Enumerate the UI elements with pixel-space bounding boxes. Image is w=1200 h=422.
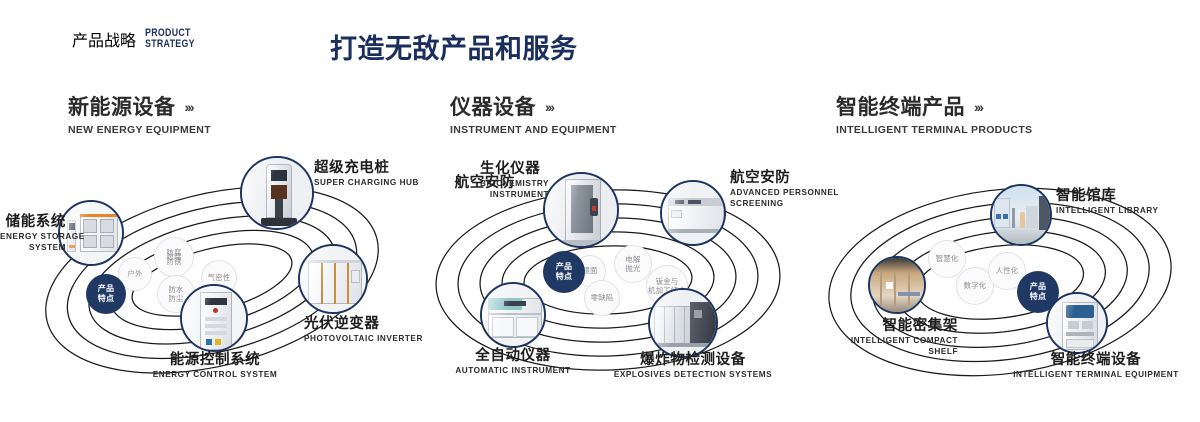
section-heading-intelligent: 智能终端产品 ››› INTELLIGENT TERMINAL PRODUCTS <box>836 96 1032 136</box>
caption-energy-control-system: 能源控制系统 ENERGY CONTROL SYSTEM <box>120 352 310 381</box>
page-title-cn: 产品战略 <box>72 27 136 51</box>
node-super-charging-hub[interactable] <box>240 156 314 230</box>
diagram-instrument: 镜面 电解 抛光 零缺陷 钣金与 机加工结合 产品 特点 <box>408 152 808 402</box>
product-strategy-infographic: 产品战略 PRODUCT STRATEGY 打造无敌产品和服务 新能源设备 ››… <box>0 0 1200 422</box>
caption-photovoltaic-inverter: 光伏逆变器 PHOTOVOLTAIC INVERTER <box>304 316 423 345</box>
node-intelligent-compact-shelf[interactable] <box>868 256 926 314</box>
page-title: 产品战略 PRODUCT STRATEGY <box>72 27 207 51</box>
section-heading-cn: 智能终端产品 <box>836 96 965 119</box>
node-advanced-personnel-screening[interactable] <box>660 180 726 246</box>
chevron-triple-icon: ››› <box>974 100 982 115</box>
section-heading-instrument: 仪器设备 ››› INSTRUMENT AND EQUIPMENT <box>450 96 617 136</box>
diagram-new-energy: 防腐 防腐 防锈 户外 防水 防尘 气密性 产品 特点 <box>12 152 412 402</box>
caption-intelligent-compact-shelf: 智能密集架 INTELLIGENT COMPACT SHELF <box>778 318 958 358</box>
caption-intelligent-terminal-equipment: 智能终端设备 INTELLIGENT TERMINAL EQUIPMENT <box>996 352 1196 381</box>
feature-bubble-text: 防腐 防锈 <box>154 237 194 277</box>
caption-biochemistry-instrument: 生化仪器 BIOCHEMISTRY INSTRUMENT <box>480 161 549 201</box>
product-features-badge: 产品 特点 <box>544 252 584 292</box>
chevron-triple-icon: ››› <box>185 100 193 115</box>
page-title-en: PRODUCT STRATEGY <box>145 28 195 50</box>
caption-explosives-detection-systems: 爆炸物检测设备 EXPLOSIVES DETECTION SYSTEMS <box>598 352 788 381</box>
node-energy-control-system[interactable] <box>180 284 248 352</box>
node-intelligent-library[interactable] <box>990 184 1052 246</box>
section-heading-cn: 新能源设备 <box>68 96 176 119</box>
section-heading-en: NEW ENERGY EQUIPMENT <box>68 124 211 136</box>
page-subtitle: 打造无敌产品和服务 <box>330 36 578 63</box>
chevron-triple-icon: ››› <box>545 100 553 115</box>
section-heading-en: INSTRUMENT AND EQUIPMENT <box>450 124 617 136</box>
section-heading-cn: 仪器设备 <box>450 96 536 119</box>
node-explosives-detection-systems[interactable] <box>648 288 718 358</box>
diagram-intelligent: 智慧化 数字化 人性化 产品 特点 <box>800 152 1200 402</box>
section-heading-en: INTELLIGENT TERMINAL PRODUCTS <box>836 124 1032 136</box>
node-biochemistry-instrument[interactable] <box>543 172 619 248</box>
caption-intelligent-library: 智能馆库 INTELLIGENT LIBRARY <box>1056 188 1158 217</box>
feature-bubble: 零缺陷 <box>584 280 620 316</box>
node-automatic-instrument[interactable] <box>480 282 546 348</box>
caption-energy-storage-system: 储能系统 ENERGY STORAGE SYSTEM <box>0 214 66 254</box>
product-features-badge: 产品 特点 <box>87 275 125 313</box>
node-intelligent-terminal-equipment[interactable] <box>1046 292 1108 354</box>
section-heading-new-energy: 新能源设备 ››› NEW ENERGY EQUIPMENT <box>68 96 211 136</box>
feature-bubble: 电解 抛光 <box>614 245 652 283</box>
node-photovoltaic-inverter[interactable] <box>298 244 368 314</box>
caption-automatic-instrument: 全自动仪器 AUTOMATIC INSTRUMENT <box>433 348 593 377</box>
